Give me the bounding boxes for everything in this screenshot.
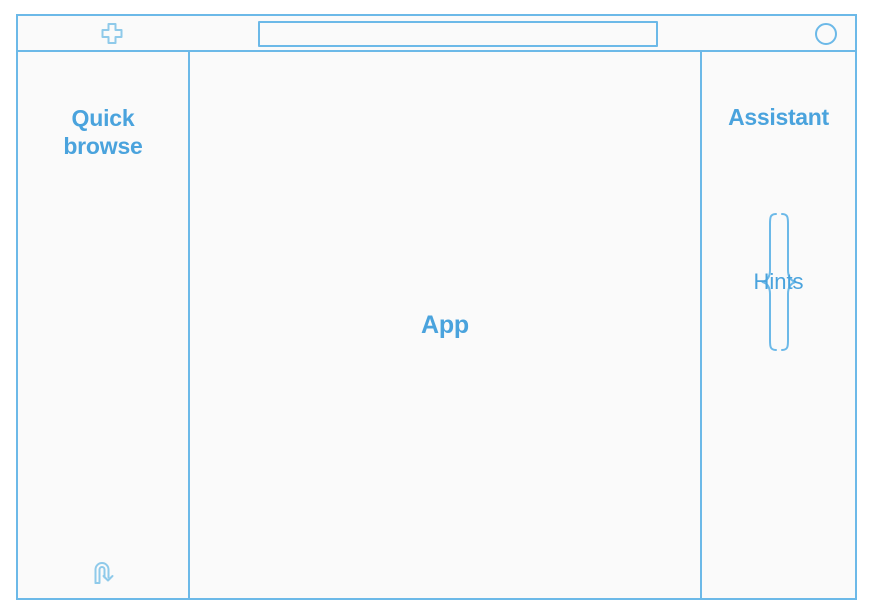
circle-avatar-icon[interactable]	[815, 23, 837, 45]
hints-block: Hints	[710, 212, 847, 352]
u-turn-arrow-icon[interactable]	[18, 558, 188, 586]
app-canvas[interactable]: App	[190, 52, 700, 598]
screen-root: Quick browse App Assistant	[0, 0, 879, 616]
app-label: App	[421, 311, 469, 340]
window-body: Quick browse App Assistant	[18, 52, 855, 598]
wireframe-window: Quick browse App Assistant	[16, 14, 857, 600]
sidebar-title-line-2: browse	[18, 132, 188, 160]
hints-label: Hints	[710, 269, 847, 295]
plus-icon[interactable]	[98, 21, 126, 47]
sidebar-title-line-1: Quick	[18, 104, 188, 132]
top-bar	[18, 16, 855, 52]
address-search-input[interactable]	[258, 21, 658, 47]
assistant-title: Assistant	[702, 104, 855, 131]
sidebar-title: Quick browse	[18, 104, 188, 160]
quick-browse-sidebar: Quick browse	[18, 52, 190, 598]
assistant-panel: Assistant Hints	[700, 52, 855, 598]
